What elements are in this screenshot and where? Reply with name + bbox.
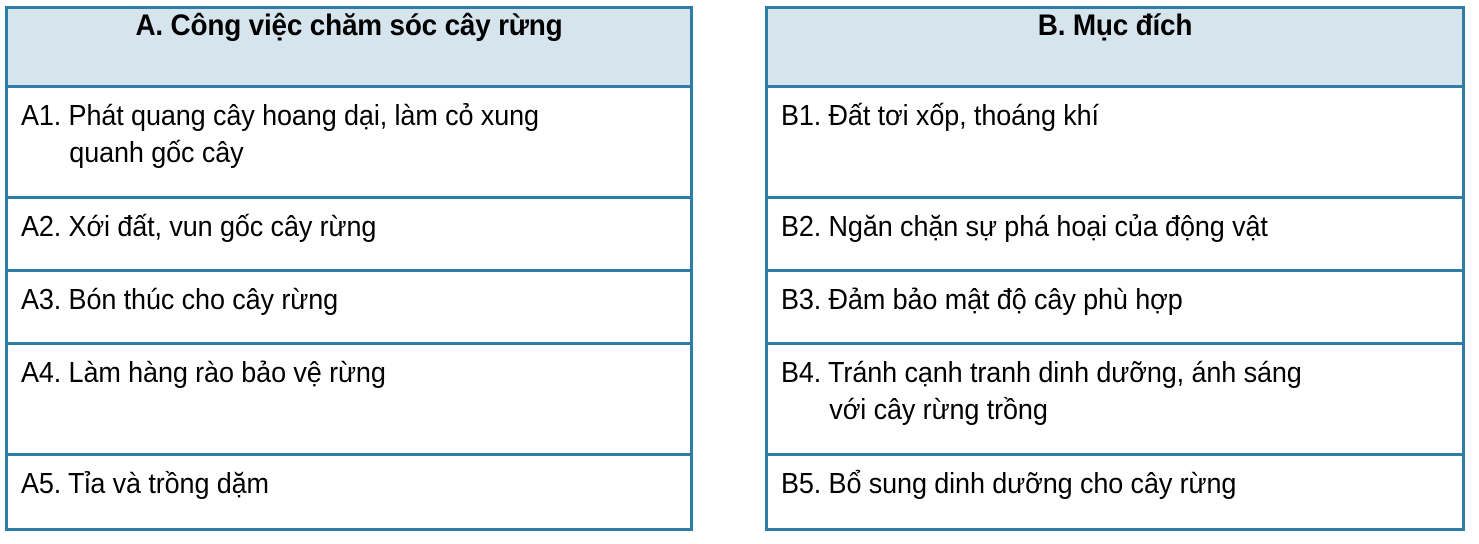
table-row[interactable]: B2. Ngăn chặn sự phá hoại của động vật [767,198,1464,271]
table-a-cell-a3[interactable]: A3. Bón thúc cho cây rừng [7,271,692,344]
table-b-cell-b4[interactable]: B4. Tránh cạnh tranh dinh dưỡng, ánh sán… [767,344,1464,455]
table-a-item-a2-label: A2. Xới đất, vun gốc cây rừng [60,199,646,254]
table-b-header-cell: B. Mục đích [767,8,1464,87]
table-row[interactable]: A1. Phát quang cây hoang dại, làm cỏ xun… [7,87,692,198]
page-root: A. Công việc chăm sóc cây rừng A1. Phát … [0,0,1479,544]
table-header-row: B. Mục đích [767,8,1464,87]
table-a-forest-care-tasks: A. Công việc chăm sóc cây rừng A1. Phát … [5,6,693,531]
table-a-cell-a4[interactable]: A4. Làm hàng rào bảo vệ rừng [7,344,692,455]
table-a-item-a3-label: A3. Bón thúc cho cây rừng [60,272,646,327]
table-header-row: A. Công việc chăm sóc cây rừng [7,8,692,87]
table-b-header-label: B. Mục đích [792,9,1437,44]
table-a-item-a4-label: A4. Làm hàng rào bảo vệ rừng [60,345,646,400]
table-a-header-label: A. Công việc chăm sóc cây rừng [32,9,666,44]
table-b-cell-b3[interactable]: B3. Đảm bảo mật độ cây phù hợp [767,271,1464,344]
table-row[interactable]: A2. Xới đất, vun gốc cây rừng [7,198,692,271]
table-row[interactable]: B5. Bổ sung dinh dưỡng cho cây rừng [767,455,1464,530]
table-row[interactable]: B1. Đất tơi xốp, thoáng khí [767,87,1464,198]
table-row[interactable]: B3. Đảm bảo mật độ cây phù hợp [767,271,1464,344]
table-b-item-b2-label: B2. Ngăn chặn sự phá hoại của động vật [820,199,1417,254]
table-a-item-a5-label: A5. Tỉa và trồng dặm [60,456,646,511]
table-b-purposes: B. Mục đích B1. Đất tơi xốp, thoáng khí … [765,6,1465,531]
table-b-item-b3-label: B3. Đảm bảo mật độ cây phù hợp [820,272,1417,327]
table-a-cell-a2[interactable]: A2. Xới đất, vun gốc cây rừng [7,198,692,271]
table-row[interactable]: A5. Tỉa và trồng dặm [7,455,692,530]
table-b-item-b1-label: B1. Đất tơi xốp, thoáng khí [820,88,1417,143]
table-row[interactable]: A4. Làm hàng rào bảo vệ rừng [7,344,692,455]
table-b-item-b5-label: B5. Bổ sung dinh dưỡng cho cây rừng [820,456,1417,511]
table-b-item-b4-label: B4. Tránh cạnh tranh dinh dưỡng, ánh sán… [820,345,1417,437]
table-b-cell-b2[interactable]: B2. Ngăn chặn sự phá hoại của động vật [767,198,1464,271]
table-b-cell-b1[interactable]: B1. Đất tơi xốp, thoáng khí [767,87,1464,198]
table-a-cell-a1[interactable]: A1. Phát quang cây hoang dại, làm cỏ xun… [7,87,692,198]
table-a-cell-a5[interactable]: A5. Tỉa và trồng dặm [7,455,692,530]
table-b-cell-b5[interactable]: B5. Bổ sung dinh dưỡng cho cây rừng [767,455,1464,530]
table-row[interactable]: A3. Bón thúc cho cây rừng [7,271,692,344]
table-a-item-a1-label: A1. Phát quang cây hoang dại, làm cỏ xun… [60,88,646,180]
table-a-header-cell: A. Công việc chăm sóc cây rừng [7,8,692,87]
table-row[interactable]: B4. Tránh cạnh tranh dinh dưỡng, ánh sán… [767,344,1464,455]
